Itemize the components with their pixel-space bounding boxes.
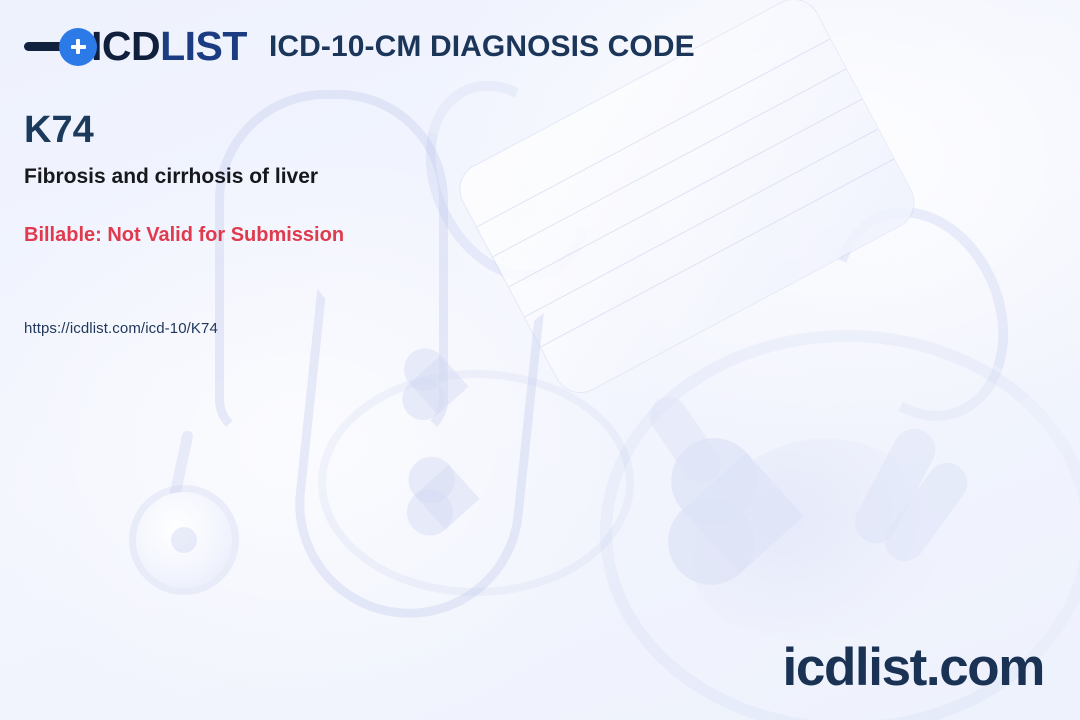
heart-shape-small-b-icon — [415, 465, 480, 530]
code-details: K74 Fibrosis and cirrhosis of liver Bill… — [24, 110, 724, 247]
hand-palm-icon — [675, 420, 956, 660]
background-wash — [0, 0, 1080, 720]
hand-finger-icon — [877, 455, 975, 569]
hand-finger-icon — [847, 421, 942, 550]
heart-shape-large-icon — [682, 452, 803, 573]
logo-wordmark: ICDLIST — [91, 26, 247, 67]
logo-list-text: LIST — [160, 23, 247, 69]
icdlist-logo[interactable]: ICDLIST — [24, 26, 247, 67]
plus-circle-icon — [59, 28, 97, 66]
stethoscope-chestpiece-icon — [136, 492, 232, 588]
heart-shape-small-a-icon — [409, 355, 468, 414]
source-url[interactable]: https://icdlist.com/icd-10/K74 — [24, 320, 218, 337]
footer-brand-watermark: icdlist.com — [783, 641, 1044, 694]
icd-code-card: ICDLIST ICD-10-CM DIAGNOSIS CODE K74 Fib… — [0, 0, 1080, 720]
logo-icd-text: ICD — [91, 23, 160, 69]
billable-status-badge: Billable: Not Valid for Submission — [24, 223, 724, 247]
background-medical-photo — [0, 0, 1080, 720]
stethoscope-tube-icon — [284, 289, 544, 629]
stethoscope-ring-shape — [318, 370, 634, 596]
page-header: ICDLIST ICD-10-CM DIAGNOSIS CODE — [24, 26, 695, 67]
page-title: ICD-10-CM DIAGNOSIS CODE — [269, 30, 695, 64]
diagnosis-code: K74 — [24, 110, 724, 152]
stethoscope-stem-icon — [167, 430, 194, 509]
mask-ear-loop-right-icon — [801, 181, 1039, 448]
diagnosis-description: Fibrosis and cirrhosis of liver — [24, 164, 724, 189]
hand-finger-icon — [642, 390, 727, 491]
